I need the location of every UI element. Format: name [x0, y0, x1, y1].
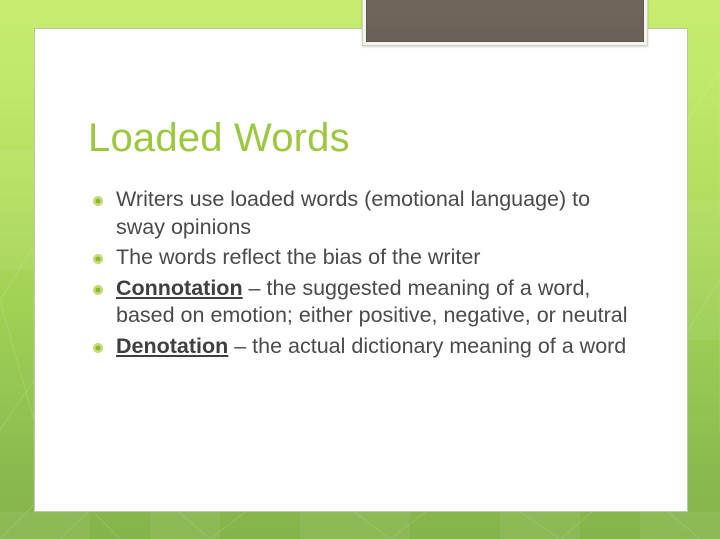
photo-placeholder-frame	[362, 0, 648, 46]
list-item-text: Writers use loaded words (emotional lang…	[116, 186, 628, 241]
ring-bullet-icon	[93, 196, 103, 206]
list-item-text: Connotation – the suggested meaning of a…	[116, 275, 628, 330]
list-item: Connotation – the suggested meaning of a…	[88, 275, 628, 330]
list-item-body: – the actual dictionary meaning of a wor…	[228, 334, 626, 358]
list-item: Denotation – the actual dictionary meani…	[88, 333, 628, 361]
list-item-text: Denotation – the actual dictionary meani…	[116, 333, 628, 361]
defined-term: Connotation	[116, 276, 243, 300]
list-item: The words reflect the bias of the writer	[88, 244, 628, 272]
ring-bullet-icon	[93, 254, 103, 264]
bullet-list: Writers use loaded words (emotional lang…	[88, 186, 628, 363]
slide: Loaded Words Writers use loaded words (e…	[0, 0, 720, 539]
photo-placeholder-image	[366, 0, 644, 42]
page-title: Loaded Words	[88, 116, 350, 161]
defined-term: Denotation	[116, 334, 228, 358]
ring-bullet-icon	[93, 285, 103, 295]
list-item-body: Writers use loaded words (emotional lang…	[116, 187, 590, 239]
list-item-body: The words reflect the bias of the writer	[116, 245, 480, 269]
list-item-text: The words reflect the bias of the writer	[116, 244, 628, 272]
ring-bullet-icon	[93, 343, 103, 353]
list-item: Writers use loaded words (emotional lang…	[88, 186, 628, 241]
